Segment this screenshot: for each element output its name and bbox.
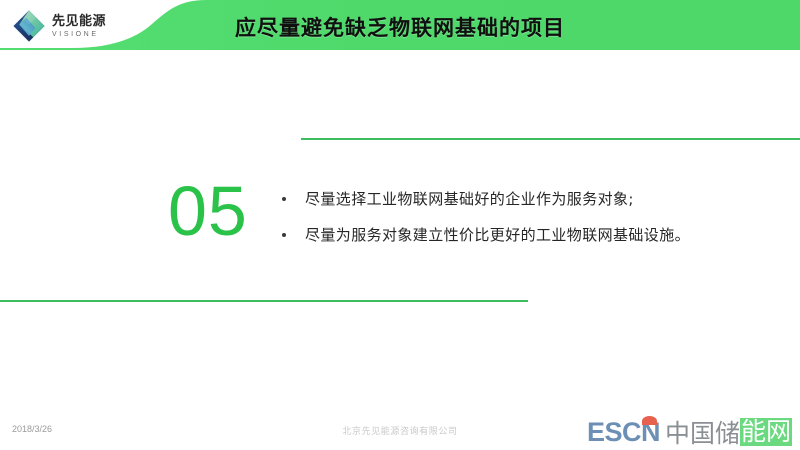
watermark-brand: ESCN xyxy=(587,419,660,446)
watermark-cn-highlight: 能网 xyxy=(740,418,792,446)
bullet-dot-icon xyxy=(282,233,286,237)
escn-watermark: ESCN 中国储 能网 xyxy=(587,412,792,446)
list-item: 尽量为服务对象建立性价比更好的工业物联网基础设施。 xyxy=(278,224,778,247)
section-number: 05 xyxy=(168,176,288,246)
presentation-slide: 先见能源 VISIONE 应尽量避免缺乏物联网基础的项目 05 尽量选择工业物联… xyxy=(0,0,800,450)
list-item: 尽量选择工业物联网基础好的企业作为服务对象; xyxy=(278,188,778,211)
divider-line-top xyxy=(301,138,800,140)
list-item-text: 尽量为服务对象建立性价比更好的工业物联网基础设施。 xyxy=(305,226,690,244)
slide-title: 应尽量避免缺乏物联网基础的项目 xyxy=(0,12,800,42)
bullet-dot-icon xyxy=(282,197,286,201)
bullet-list: 尽量选择工业物联网基础好的企业作为服务对象; 尽量为服务对象建立性价比更好的工业… xyxy=(278,188,778,246)
watermark-arc-icon xyxy=(642,416,657,425)
watermark-cn-plain: 中国储 xyxy=(665,421,740,446)
list-item-text: 尽量选择工业物联网基础好的企业作为服务对象; xyxy=(305,190,634,208)
divider-line-bottom xyxy=(0,300,528,302)
